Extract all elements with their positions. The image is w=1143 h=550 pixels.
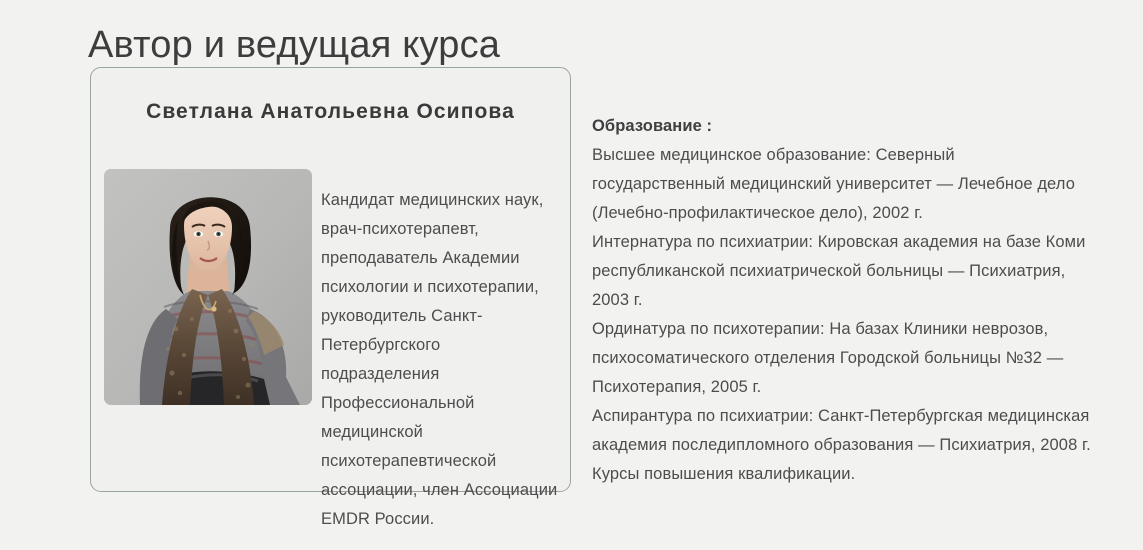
- page-title: Автор и ведущая курса: [88, 21, 500, 69]
- education-block: Образование : Высшее медицинское образов…: [592, 112, 1092, 489]
- education-entry: Высшее медицинское образование: Северный…: [592, 141, 1092, 228]
- portrait-photo-icon: [104, 169, 312, 405]
- author-bio: Кандидат медицинских наук, врач-психотер…: [321, 186, 560, 534]
- author-card: Светлана Анатольевна Осипова: [90, 67, 571, 492]
- education-entry: Курсы повышения квалификации.: [592, 460, 1092, 489]
- author-card-body: Кандидат медицинских наук, врач-психотер…: [104, 169, 560, 550]
- education-heading: Образование :: [592, 112, 1092, 141]
- education-entry: Аспирантура по психиатрии: Санкт-Петербу…: [592, 402, 1092, 460]
- author-photo: [104, 169, 312, 405]
- education-entry: Ординатура по психотерапии: На базах Кли…: [592, 315, 1092, 402]
- author-name: Светлана Анатольевна Осипова: [91, 100, 570, 124]
- education-entry: Интернатура по психиатрии: Кировская ака…: [592, 228, 1092, 315]
- author-section: Автор и ведущая курса Светлана Анатольев…: [0, 0, 1143, 500]
